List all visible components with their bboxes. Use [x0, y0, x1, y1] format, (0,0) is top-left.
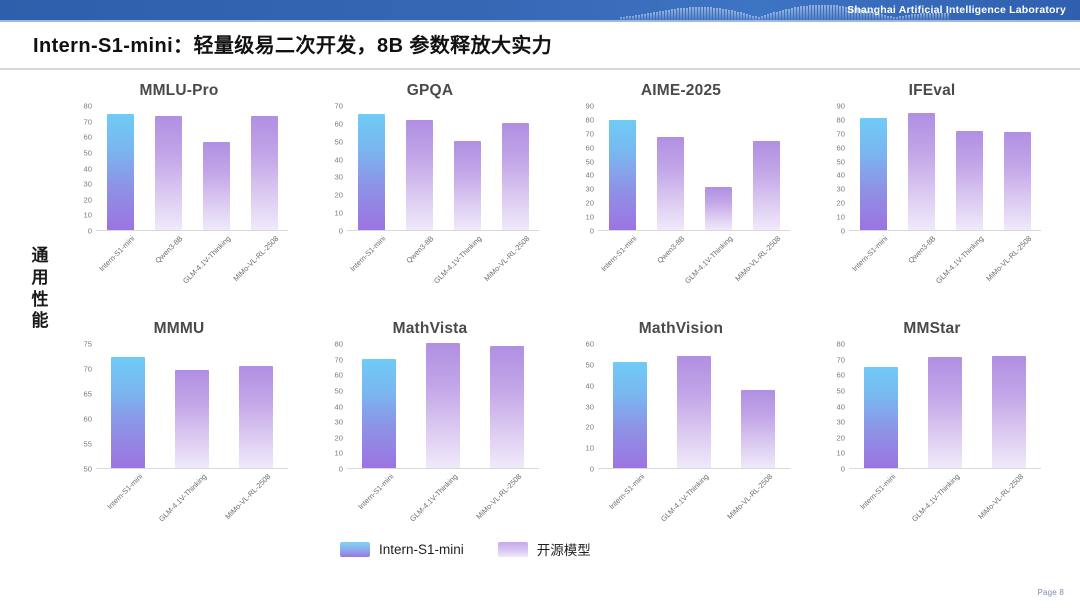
y-tick-label: 50: [335, 386, 343, 395]
y-tick-label: 80: [335, 340, 343, 349]
bar: [928, 357, 962, 468]
x-tick-label: Intern-S1-mini: [348, 234, 387, 273]
chart-title: MathVista: [321, 320, 539, 338]
bar: [741, 390, 775, 468]
bar: [908, 113, 935, 230]
bar: [203, 142, 230, 230]
y-axis: 0102030405060: [572, 344, 598, 469]
y-tick-label: 10: [837, 213, 845, 222]
bar: [490, 346, 524, 469]
chart-title: MMLU-Pro: [70, 82, 288, 100]
x-tick-label: GLM-4.1V-Thinking: [157, 472, 208, 523]
x-axis-labels: Intern-S1-miniQwen3-8BGLM-4.1V-ThinkingM…: [598, 231, 790, 289]
y-tick-label: 20: [586, 423, 594, 432]
x-tick-label: Intern-S1-mini: [105, 472, 144, 511]
y-tick-label: 30: [335, 173, 343, 182]
chart-title: GPQA: [321, 82, 539, 100]
y-tick-label: 40: [335, 402, 343, 411]
plot-area: 01020304050607080Intern-S1-miniQwen3-8BG…: [70, 106, 288, 231]
legend-label: Intern-S1-mini: [379, 542, 464, 557]
x-axis-labels: Intern-S1-miniQwen3-8BGLM-4.1V-ThinkingM…: [347, 231, 539, 289]
bar: [362, 359, 396, 468]
x-tick-label: Qwen3-8B: [404, 234, 435, 265]
y-tick-label: 0: [841, 465, 845, 474]
x-tick-label: MiMo-VL-RL-2508: [223, 472, 272, 521]
y-tick-label: 60: [586, 340, 594, 349]
plot-area: 010203040506070Intern-S1-miniQwen3-8BGLM…: [321, 106, 539, 231]
plot-area: 01020304050607080Intern-S1-miniGLM-4.1V-…: [321, 344, 539, 469]
y-tick-label: 70: [837, 355, 845, 364]
x-tick-label: Qwen3-8B: [655, 234, 686, 265]
y-tick-label: 80: [837, 115, 845, 124]
bar: [992, 356, 1026, 469]
x-tick-label: GLM-4.1V-Thinking: [659, 472, 710, 523]
y-tick-label: 0: [339, 227, 343, 236]
bar: [426, 343, 460, 468]
bar: [677, 356, 711, 468]
x-tick-label: MiMo-VL-RL-2508: [733, 234, 782, 283]
y-tick-label: 40: [837, 402, 845, 411]
y-tick-label: 10: [335, 449, 343, 458]
bars-panel: [598, 106, 790, 231]
y-tick-label: 30: [84, 180, 92, 189]
y-tick-label: 40: [586, 381, 594, 390]
y-tick-label: 60: [84, 415, 92, 424]
bar: [107, 114, 134, 230]
organization-title: Shanghai Artificial Intelligence Laborat…: [847, 0, 1066, 20]
x-tick-label: GLM-4.1V-Thinking: [408, 472, 459, 523]
y-tick-label: 80: [837, 340, 845, 349]
section-label-vertical: 通用性能: [27, 245, 53, 332]
x-tick-label: GLM-4.1V-Thinking: [432, 234, 483, 285]
y-tick-label: 10: [586, 444, 594, 453]
charts-grid: MMLU-Pro01020304050607080Intern-S1-miniQ…: [70, 82, 1075, 532]
legend-swatch: [340, 542, 370, 557]
bar: [358, 114, 385, 230]
legend-item[interactable]: 开源模型: [498, 539, 591, 559]
y-tick-label: 80: [586, 115, 594, 124]
bar: [1004, 132, 1031, 230]
y-tick-label: 50: [84, 465, 92, 474]
x-tick-label: Qwen3-8B: [153, 234, 184, 265]
legend: Intern-S1-mini开源模型: [340, 538, 591, 560]
x-tick-label: GLM-4.1V-Thinking: [683, 234, 734, 285]
plot-area: 0102030405060Intern-S1-miniGLM-4.1V-Thin…: [572, 344, 790, 469]
x-tick-label: MiMo-VL-RL-2508: [482, 234, 531, 283]
x-axis-labels: Intern-S1-miniQwen3-8BGLM-4.1V-ThinkingM…: [849, 231, 1041, 289]
y-tick-label: 0: [841, 227, 845, 236]
y-tick-label: 50: [837, 386, 845, 395]
y-axis: 505560657075: [70, 344, 96, 469]
bar: [155, 116, 182, 230]
x-tick-label: Intern-S1-mini: [858, 472, 897, 511]
y-tick-label: 80: [84, 102, 92, 111]
y-tick-label: 50: [335, 137, 343, 146]
bar: [251, 116, 278, 230]
plot-area: 505560657075Intern-S1-miniGLM-4.1V-Think…: [70, 344, 288, 469]
chart-title: MMStar: [823, 320, 1041, 338]
plot-area: 0102030405060708090Intern-S1-miniQwen3-8…: [823, 106, 1041, 231]
x-tick-label: Intern-S1-mini: [607, 472, 646, 511]
y-tick-label: 0: [88, 227, 92, 236]
y-tick-label: 90: [837, 102, 845, 111]
bars-panel: [849, 106, 1041, 231]
bar: [239, 366, 273, 468]
y-tick-label: 20: [837, 199, 845, 208]
x-axis-labels: Intern-S1-miniQwen3-8BGLM-4.1V-ThinkingM…: [96, 231, 288, 289]
y-tick-label: 20: [586, 199, 594, 208]
y-axis: 0102030405060708090: [823, 106, 849, 231]
page-title: Intern-S1-mini：轻量级易二次开发，8B 参数释放大实力: [33, 29, 552, 58]
bars-panel: [96, 106, 288, 231]
y-tick-label: 70: [837, 129, 845, 138]
y-tick-label: 70: [335, 102, 343, 111]
bar: [454, 141, 481, 230]
y-tick-label: 60: [335, 371, 343, 380]
y-tick-label: 10: [84, 211, 92, 220]
y-tick-label: 30: [335, 418, 343, 427]
y-axis: 01020304050607080: [823, 344, 849, 469]
bars-panel: [347, 344, 539, 469]
y-tick-label: 20: [837, 433, 845, 442]
title-divider: [0, 68, 1080, 70]
y-axis: 01020304050607080: [70, 106, 96, 231]
legend-label: 开源模型: [537, 539, 591, 559]
x-tick-label: MiMo-VL-RL-2508: [984, 234, 1033, 283]
slide-canvas: Shanghai Artificial Intelligence Laborat…: [0, 0, 1080, 609]
y-tick-label: 30: [586, 185, 594, 194]
x-tick-label: GLM-4.1V-Thinking: [934, 234, 985, 285]
legend-swatch: [498, 542, 528, 557]
y-tick-label: 75: [84, 340, 92, 349]
x-tick-label: GLM-4.1V-Thinking: [910, 472, 961, 523]
x-tick-label: Intern-S1-mini: [356, 472, 395, 511]
bars-panel: [598, 344, 790, 469]
x-tick-label: MiMo-VL-RL-2508: [474, 472, 523, 521]
x-axis-labels: Intern-S1-miniGLM-4.1V-ThinkingMiMo-VL-R…: [347, 469, 539, 527]
y-tick-label: 30: [586, 402, 594, 411]
x-tick-label: MiMo-VL-RL-2508: [231, 234, 280, 283]
y-tick-label: 70: [84, 117, 92, 126]
y-tick-label: 70: [335, 355, 343, 364]
x-tick-label: MiMo-VL-RL-2508: [725, 472, 774, 521]
x-tick-label: MiMo-VL-RL-2508: [976, 472, 1025, 521]
y-tick-label: 50: [586, 360, 594, 369]
legend-item[interactable]: Intern-S1-mini: [340, 542, 464, 557]
y-tick-label: 40: [586, 171, 594, 180]
y-axis: 0102030405060708090: [572, 106, 598, 231]
y-tick-label: 60: [837, 371, 845, 380]
x-tick-label: GLM-4.1V-Thinking: [181, 234, 232, 285]
bars-panel: [96, 344, 288, 469]
y-tick-label: 0: [590, 227, 594, 236]
y-axis: 01020304050607080: [321, 344, 347, 469]
bar: [705, 187, 732, 230]
y-tick-label: 90: [586, 102, 594, 111]
bar: [956, 131, 983, 230]
plot-area: 01020304050607080Intern-S1-miniGLM-4.1V-…: [823, 344, 1041, 469]
y-tick-label: 20: [84, 195, 92, 204]
y-tick-label: 40: [84, 164, 92, 173]
bar: [657, 137, 684, 230]
y-tick-label: 50: [84, 148, 92, 157]
x-axis-labels: Intern-S1-miniGLM-4.1V-ThinkingMiMo-VL-R…: [96, 469, 288, 527]
bar: [860, 118, 887, 230]
x-axis-labels: Intern-S1-miniGLM-4.1V-ThinkingMiMo-VL-R…: [849, 469, 1041, 527]
y-tick-label: 70: [84, 365, 92, 374]
y-tick-label: 20: [335, 433, 343, 442]
banner-underline: [0, 20, 1080, 22]
y-tick-label: 70: [586, 129, 594, 138]
bar: [175, 370, 209, 469]
y-axis: 010203040506070: [321, 106, 347, 231]
header-banner: Shanghai Artificial Intelligence Laborat…: [0, 0, 1080, 20]
x-tick-label: Intern-S1-mini: [850, 234, 889, 273]
y-tick-label: 50: [837, 157, 845, 166]
chart-title: MathVision: [572, 320, 790, 338]
bar: [753, 141, 780, 230]
y-tick-label: 0: [590, 465, 594, 474]
bar: [864, 367, 898, 468]
bars-panel: [849, 344, 1041, 469]
chart-title: AIME-2025: [572, 82, 790, 100]
y-tick-label: 10: [335, 209, 343, 218]
y-tick-label: 65: [84, 390, 92, 399]
chart-title: IFEval: [823, 82, 1041, 100]
y-tick-label: 10: [586, 213, 594, 222]
y-tick-label: 30: [837, 418, 845, 427]
y-tick-label: 60: [837, 143, 845, 152]
y-tick-label: 10: [837, 449, 845, 458]
y-tick-label: 40: [837, 171, 845, 180]
y-tick-label: 0: [339, 465, 343, 474]
x-tick-label: Intern-S1-mini: [97, 234, 136, 273]
bar: [613, 362, 647, 468]
plot-area: 0102030405060708090Intern-S1-miniQwen3-8…: [572, 106, 790, 231]
y-tick-label: 30: [837, 185, 845, 194]
chart-title: MMMU: [70, 320, 288, 338]
bar: [406, 120, 433, 230]
y-tick-label: 55: [84, 440, 92, 449]
x-tick-label: Intern-S1-mini: [599, 234, 638, 273]
x-tick-label: Qwen3-8B: [906, 234, 937, 265]
y-tick-label: 50: [586, 157, 594, 166]
y-tick-label: 60: [586, 143, 594, 152]
bars-panel: [347, 106, 539, 231]
bar: [609, 120, 636, 230]
y-tick-label: 20: [335, 191, 343, 200]
bar: [502, 123, 529, 230]
y-tick-label: 60: [84, 133, 92, 142]
bar: [111, 357, 145, 468]
page-number: Page 8: [1037, 588, 1064, 597]
x-axis-labels: Intern-S1-miniGLM-4.1V-ThinkingMiMo-VL-R…: [598, 469, 790, 527]
y-tick-label: 40: [335, 155, 343, 164]
y-tick-label: 60: [335, 119, 343, 128]
